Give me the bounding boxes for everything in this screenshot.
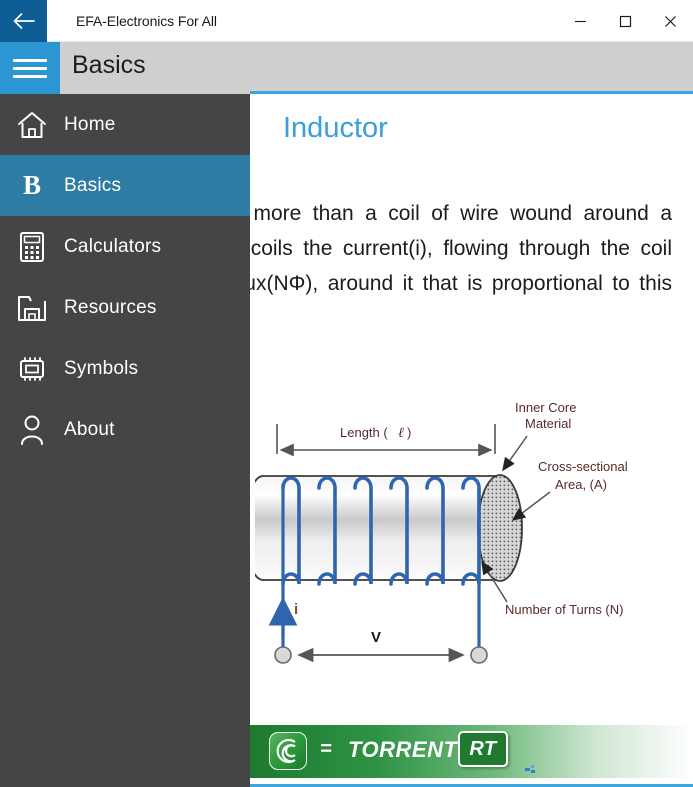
header-bar: Basics [0, 42, 693, 94]
minimize-button[interactable] [558, 0, 603, 42]
ad-badge[interactable]: RT [458, 731, 508, 767]
sidebar-item-label: Symbols [64, 358, 138, 380]
letter-b-icon: B [0, 172, 64, 199]
app-window: EFA-Electronics For All [0, 0, 693, 787]
sidebar-item-label: Calculators [64, 236, 161, 258]
current-label: i [294, 601, 298, 618]
sidebar-item-about[interactable]: About [0, 399, 250, 460]
voltage-label: V [371, 629, 381, 646]
inductor-core-body [255, 476, 500, 580]
resources-folder-icon [0, 293, 64, 323]
article-title: Inductor [283, 112, 388, 145]
sidebar-item-label: About [64, 419, 115, 441]
sidebar-item-resources[interactable]: Resources [0, 277, 250, 338]
ad-banner[interactable]: = TORRENT RT [250, 725, 693, 778]
bittorrent-logo-icon [269, 732, 307, 770]
home-icon [0, 110, 64, 140]
window-controls [558, 0, 693, 42]
ad-badge-text: RT [469, 738, 496, 761]
cross-section-label-line1: Cross-sectional [538, 459, 628, 474]
turns-label: Number of Turns (N) [505, 602, 623, 617]
ad-word: TORRENT [348, 737, 457, 763]
inductor-diagram-svg: Length ( ℓ ) [255, 392, 675, 692]
maximize-button[interactable] [603, 0, 648, 42]
back-button[interactable] [0, 0, 47, 42]
inner-core-label-line1: Inner Core [515, 400, 576, 415]
sidebar-item-basics[interactable]: B Basics [0, 155, 250, 216]
minimize-icon [574, 15, 587, 28]
cross-section-label-line2: Area, (A) [555, 477, 607, 492]
navigation-sidebar: Home B Basics Calculators [0, 94, 250, 787]
bittorrent-swirl-icon [275, 738, 301, 764]
sidebar-item-calculators[interactable]: Calculators [0, 216, 250, 277]
sidebar-item-label: Basics [64, 175, 121, 197]
length-label: Length ( [340, 425, 388, 440]
sidebar-item-symbols[interactable]: Symbols [0, 338, 250, 399]
sidebar-item-label: Home [64, 114, 115, 136]
inner-core-label-line2: Material [525, 416, 571, 431]
close-button[interactable] [648, 0, 693, 42]
window-title: EFA-Electronics For All [76, 13, 217, 29]
ad-equals-sign: = [320, 738, 332, 761]
right-terminal [471, 647, 487, 663]
sidebar-item-home[interactable]: Home [0, 94, 250, 155]
title-bar: EFA-Electronics For All [0, 0, 693, 42]
back-arrow-icon [12, 12, 36, 30]
tiny-blue-icon[interactable] [525, 765, 537, 774]
inductor-diagram: Length ( ℓ ) [255, 392, 675, 692]
length-close: ) [407, 425, 411, 440]
calculator-icon [0, 231, 64, 263]
person-icon [0, 414, 64, 446]
length-symbol: ℓ [398, 426, 404, 441]
maximize-icon [619, 15, 632, 28]
chip-icon [0, 354, 64, 384]
sidebar-item-label: Resources [64, 297, 157, 319]
page-title: Basics [72, 51, 146, 80]
hamburger-icon [13, 54, 47, 83]
close-icon [664, 15, 677, 28]
left-terminal [275, 647, 291, 663]
menu-toggle-button[interactable] [0, 42, 60, 94]
